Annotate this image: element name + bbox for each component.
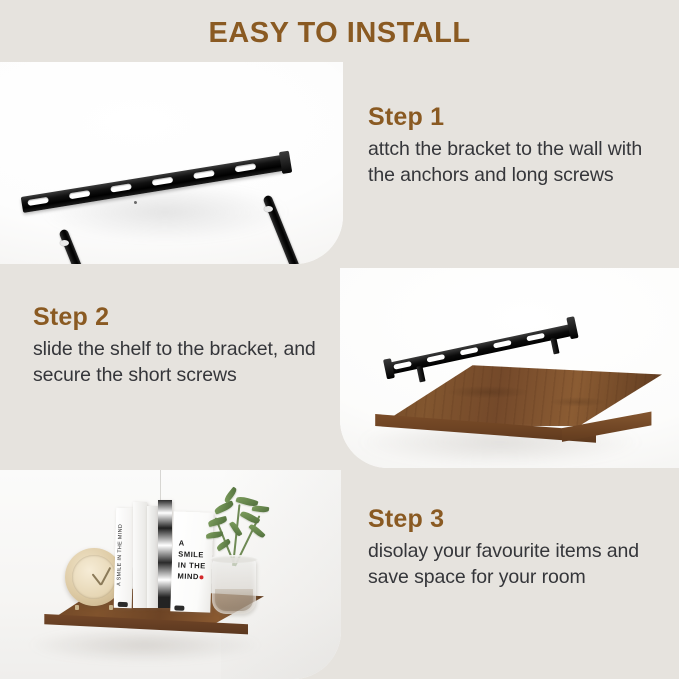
step-3-image-panel: A SMILE IN THE MIND A SMILE IN THE MIND xyxy=(0,470,341,679)
book-cover-subtitle xyxy=(179,526,207,531)
book-spine-title: A SMILE IN THE MIND xyxy=(116,524,124,586)
wall-bracket-photo xyxy=(0,62,343,264)
book-patterned xyxy=(158,500,172,608)
bracket-slot xyxy=(152,177,174,186)
vase-water xyxy=(215,589,253,611)
shelf-top-face xyxy=(366,360,662,426)
bracket-slot xyxy=(193,170,215,179)
book: A SMILE IN THE MIND xyxy=(114,508,135,608)
bracket-slot xyxy=(69,190,91,199)
clock-minute-hand xyxy=(100,567,111,586)
bracket-support-rod xyxy=(58,228,99,264)
book-cover-title: A SMILE IN THE MIND xyxy=(177,538,209,583)
glass-vase xyxy=(212,558,256,614)
book-cover-accent-dot xyxy=(200,575,204,579)
bracket-support-rod xyxy=(262,194,302,264)
clock-face xyxy=(72,555,116,599)
book-front-cover: A SMILE IN THE MIND xyxy=(170,511,213,612)
step-3-body: disolay your favourite items and save sp… xyxy=(368,539,670,591)
bracket-washer xyxy=(264,206,273,212)
step-2-heading: Step 2 xyxy=(33,303,323,331)
step-1-heading: Step 1 xyxy=(368,103,666,131)
bracket-center-pin xyxy=(134,201,137,204)
infographic-canvas: EASY TO INSTALL Step 1 attch xyxy=(0,0,679,679)
book-spine-cap xyxy=(174,605,184,610)
bracket-rail xyxy=(21,154,288,213)
page-title: EASY TO INSTALL xyxy=(0,17,679,50)
step-3-text-block: Step 3 disolay your favourite items and … xyxy=(368,505,670,591)
book xyxy=(133,502,147,608)
wooden-shelf xyxy=(366,328,666,458)
step-1-image-panel xyxy=(0,62,343,264)
clock-foot xyxy=(75,605,79,610)
bracket-slot xyxy=(110,183,132,192)
bracket-slot xyxy=(27,197,49,206)
book xyxy=(147,506,158,608)
bracket-washer xyxy=(60,240,69,246)
step-3-heading: Step 3 xyxy=(368,505,670,533)
book-cover-footer xyxy=(177,597,205,602)
bracket-slot xyxy=(235,163,257,172)
step-1-body: attch the bracket to the wall with the a… xyxy=(368,137,666,189)
step-2-body: slide the shelf to the bracket, and secu… xyxy=(33,337,323,389)
step-1-text-block: Step 1 attch the bracket to the wall wit… xyxy=(368,103,666,189)
bracket-end-cap xyxy=(279,151,292,174)
clock-foot xyxy=(109,605,113,610)
step-2-text-block: Step 2 slide the shelf to the bracket, a… xyxy=(33,303,323,389)
book-spine-cap xyxy=(118,602,128,607)
vase-rim xyxy=(210,555,258,563)
step-2-image-panel xyxy=(340,268,679,468)
